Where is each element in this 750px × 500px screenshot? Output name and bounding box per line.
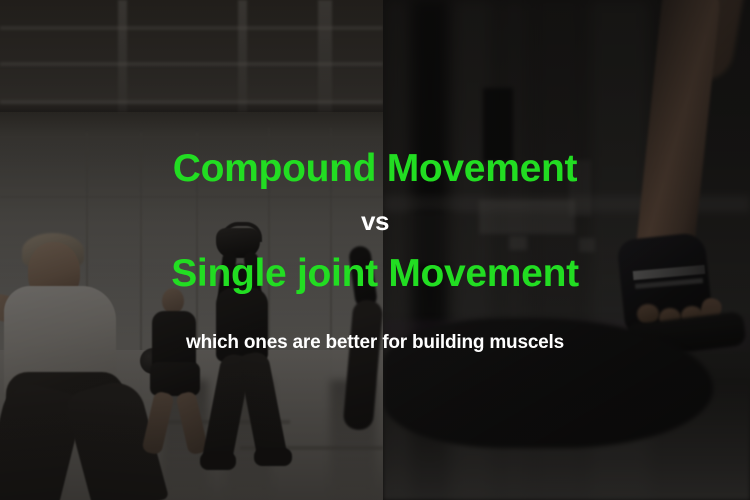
versus-label: vs [361, 208, 389, 234]
fitness-comparison-banner: Compound Movement vs Single joint Moveme… [0, 0, 750, 500]
banner-subtitle: which ones are better for building musce… [186, 333, 564, 352]
headline-single-joint-movement: Single joint Movement [171, 254, 579, 293]
headline-compound-movement: Compound Movement [173, 149, 577, 188]
banner-text-block: Compound Movement vs Single joint Moveme… [0, 0, 750, 500]
